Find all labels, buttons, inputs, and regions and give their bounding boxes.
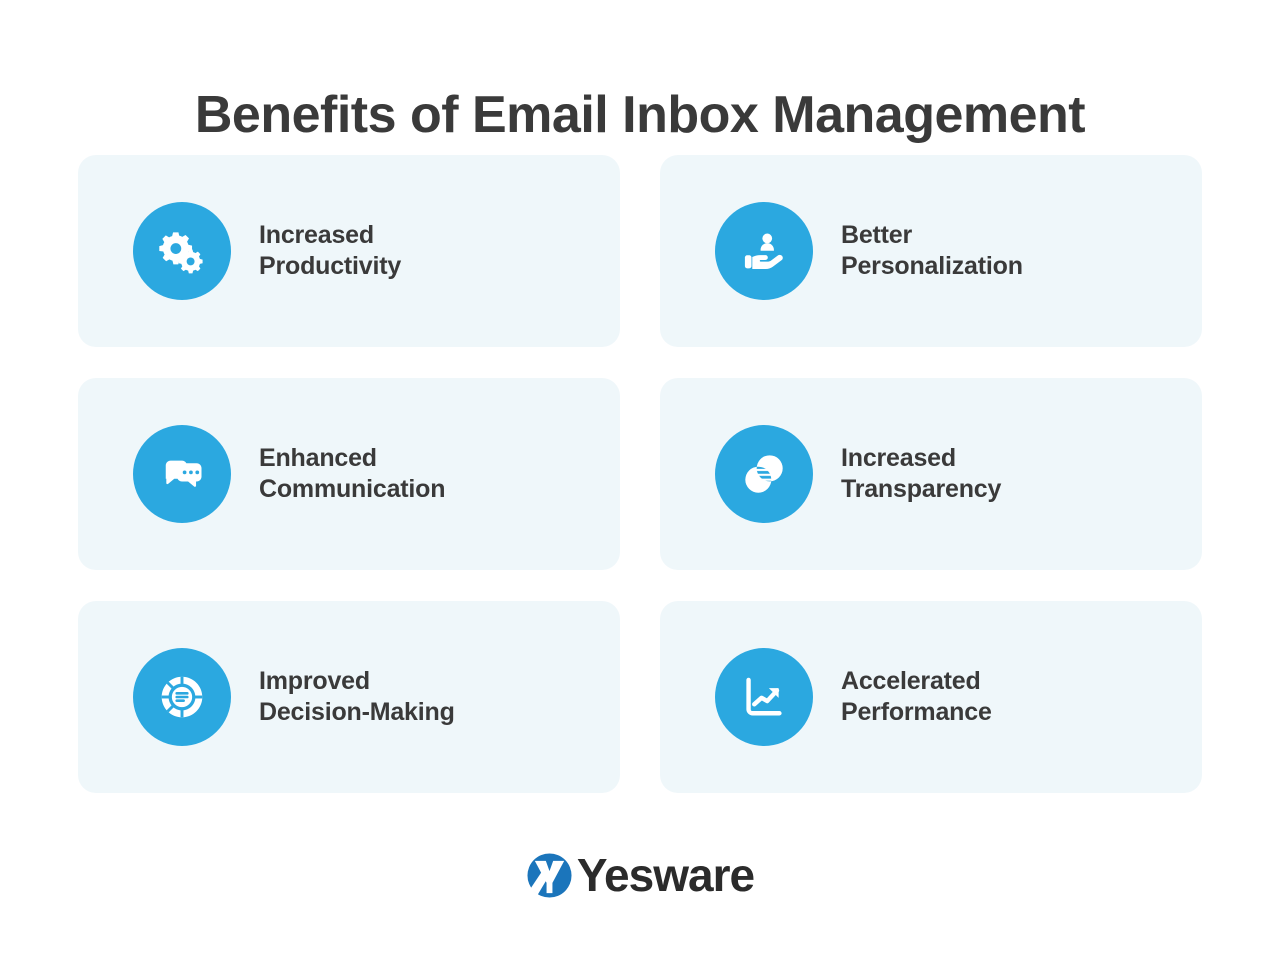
benefit-card-label: Increased Transparency bbox=[841, 443, 1001, 505]
benefit-card-label: Increased Productivity bbox=[259, 220, 401, 282]
benefit-card-accelerated-performance[interactable]: Accelerated Performance bbox=[660, 601, 1202, 793]
donut-chart-icon bbox=[133, 648, 231, 746]
line-chart-up-icon bbox=[715, 648, 813, 746]
benefits-grid: Increased Productivity Better Personaliz… bbox=[78, 155, 1202, 793]
page-title: Benefits of Email Inbox Management bbox=[0, 85, 1280, 145]
footer-logo[interactable]: Yesware bbox=[0, 852, 1280, 899]
benefit-card-improved-decision-making[interactable]: Improved Decision-Making bbox=[78, 601, 620, 793]
benefit-card-label: Better Personalization bbox=[841, 220, 1023, 282]
chat-bubbles-icon bbox=[133, 425, 231, 523]
benefit-card-label: Accelerated Performance bbox=[841, 666, 992, 728]
hand-person-icon bbox=[715, 202, 813, 300]
benefit-card-increased-productivity[interactable]: Increased Productivity bbox=[78, 155, 620, 347]
gears-icon bbox=[133, 202, 231, 300]
venn-circles-icon bbox=[715, 425, 813, 523]
benefit-card-enhanced-communication[interactable]: Enhanced Communication bbox=[78, 378, 620, 570]
yesware-logo-mark-icon bbox=[526, 852, 573, 899]
benefit-card-label: Enhanced Communication bbox=[259, 443, 445, 505]
benefit-card-label: Improved Decision-Making bbox=[259, 666, 455, 728]
benefit-card-increased-transparency[interactable]: Increased Transparency bbox=[660, 378, 1202, 570]
yesware-logo-text: Yesware bbox=[577, 852, 754, 899]
infographic-canvas: Benefits of Email Inbox Management Incre… bbox=[0, 0, 1280, 962]
benefit-card-better-personalization[interactable]: Better Personalization bbox=[660, 155, 1202, 347]
